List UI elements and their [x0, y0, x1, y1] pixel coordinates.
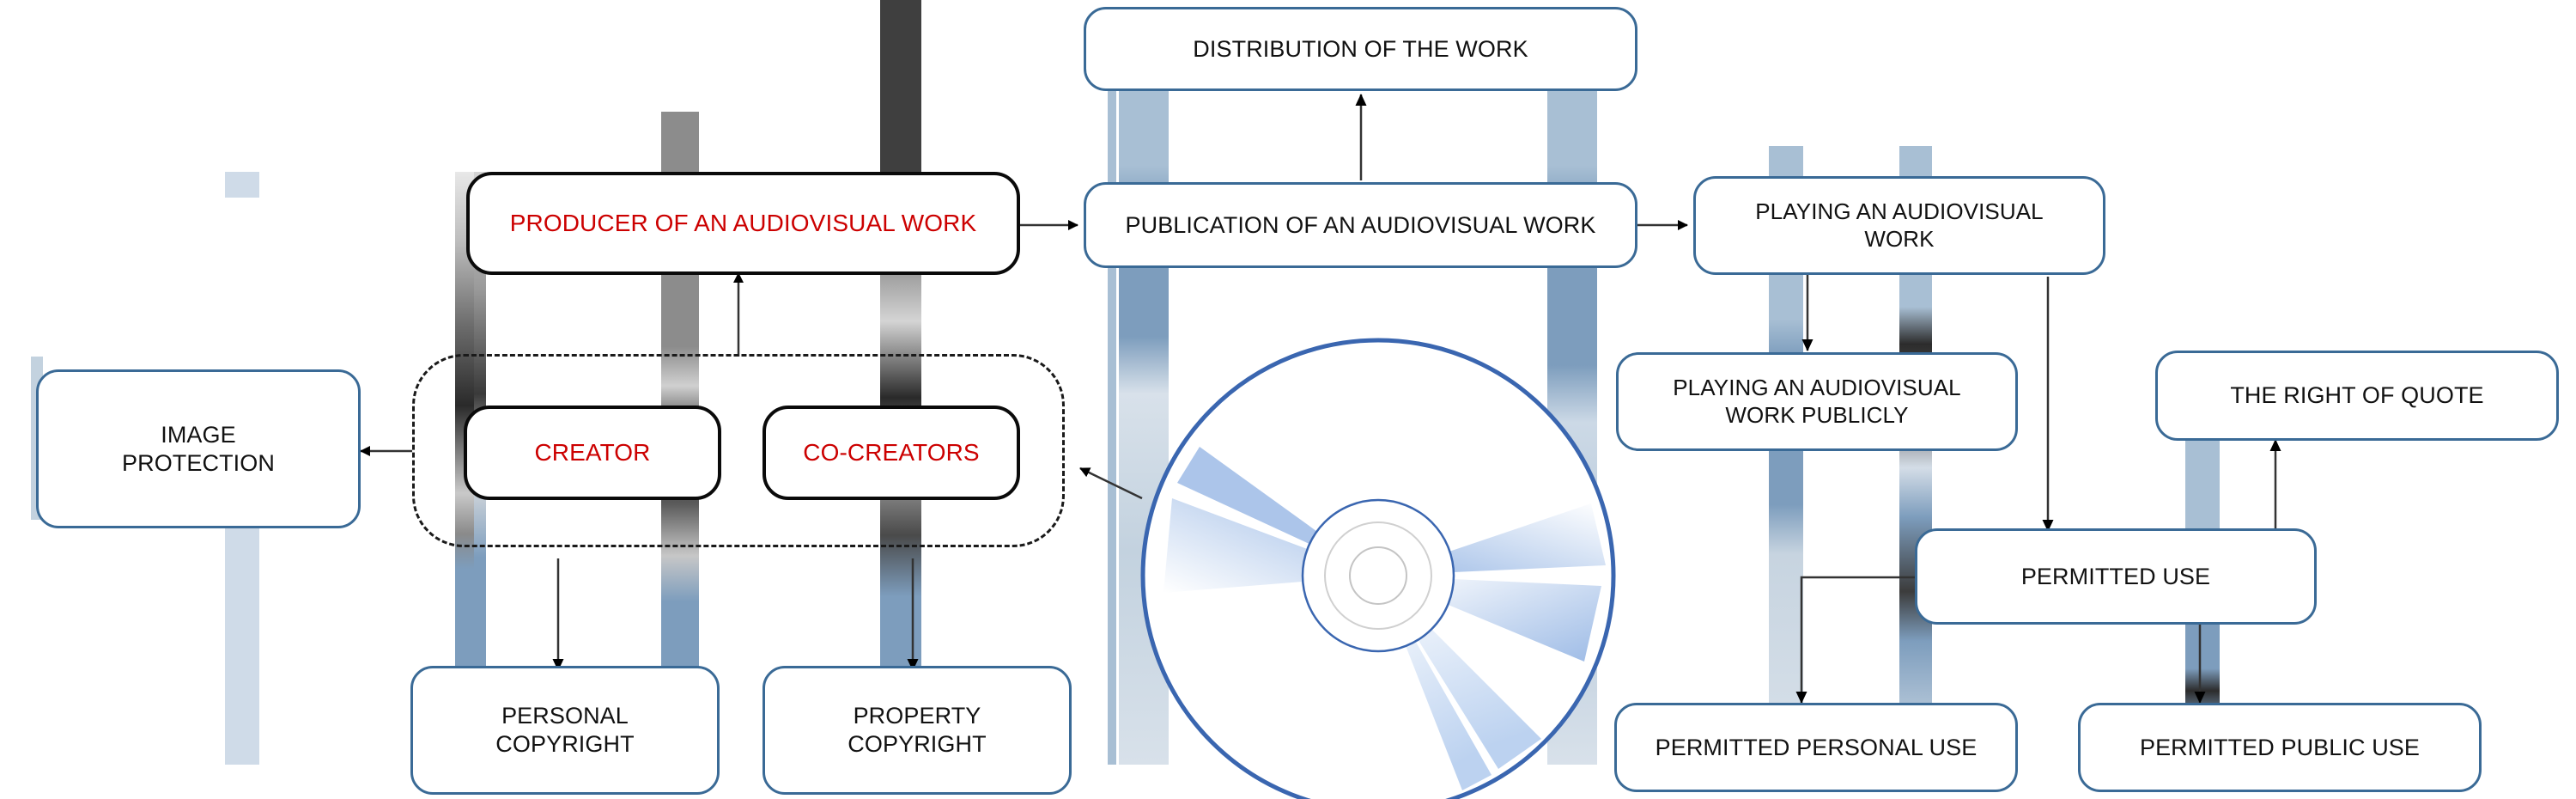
node-label: PROPERTY COPYRIGHT: [835, 702, 998, 759]
node-label: PERMITTED USE: [2009, 563, 2222, 591]
node-property-copyright[interactable]: PROPERTY COPYRIGHT: [762, 666, 1072, 795]
node-label: IMAGE PROTECTION: [110, 421, 287, 478]
node-label: PERSONAL COPYRIGHT: [483, 702, 646, 759]
node-label: CREATOR: [522, 438, 662, 467]
edge-disc-to-creators-group: [1080, 468, 1142, 498]
compact-disc-icon: [1138, 335, 1619, 799]
node-permitted-use[interactable]: PERMITTED USE: [1915, 528, 2317, 625]
node-playing-publicly[interactable]: PLAYING AN AUDIOVISUAL WORK PUBLICLY: [1616, 352, 2018, 451]
node-publication[interactable]: PUBLICATION OF AN AUDIOVISUAL WORK: [1084, 182, 1637, 268]
node-label: PRODUCER OF AN AUDIOVISUAL WORK: [498, 209, 988, 238]
node-label: PERMITTED PERSONAL USE: [1643, 734, 1990, 762]
sign-post-icon: [225, 172, 259, 198]
node-personal-copyright[interactable]: PERSONAL COPYRIGHT: [410, 666, 720, 795]
node-label: PLAYING AN AUDIOVISUAL WORK: [1743, 198, 2056, 253]
node-label: THE RIGHT OF QUOTE: [2218, 381, 2495, 410]
node-image-protection[interactable]: IMAGE PROTECTION: [36, 369, 361, 528]
node-right-of-quote[interactable]: THE RIGHT OF QUOTE: [2155, 351, 2559, 441]
node-distribution[interactable]: DISTRIBUTION OF THE WORK: [1084, 7, 1637, 91]
node-permitted-public-use[interactable]: PERMITTED PUBLIC USE: [2078, 703, 2482, 792]
node-producer[interactable]: PRODUCER OF AN AUDIOVISUAL WORK: [466, 172, 1020, 275]
node-playing[interactable]: PLAYING AN AUDIOVISUAL WORK: [1693, 176, 2105, 275]
sign-post-icon: [225, 515, 259, 765]
diagram-canvas: IMAGE PROTECTION PRODUCER OF AN AUDIOVIS…: [0, 0, 2576, 799]
node-label: CO-CREATORS: [791, 438, 991, 467]
node-co-creators[interactable]: CO-CREATORS: [762, 406, 1020, 500]
node-label: PERMITTED PUBLIC USE: [2128, 734, 2432, 762]
node-label: DISTRIBUTION OF THE WORK: [1181, 35, 1540, 64]
node-permitted-personal-use[interactable]: PERMITTED PERSONAL USE: [1614, 703, 2018, 792]
background-bar: [1108, 52, 1116, 765]
node-label: PLAYING AN AUDIOVISUAL WORK PUBLICLY: [1661, 375, 1973, 429]
node-creator[interactable]: CREATOR: [464, 406, 721, 500]
node-label: PUBLICATION OF AN AUDIOVISUAL WORK: [1113, 211, 1607, 240]
